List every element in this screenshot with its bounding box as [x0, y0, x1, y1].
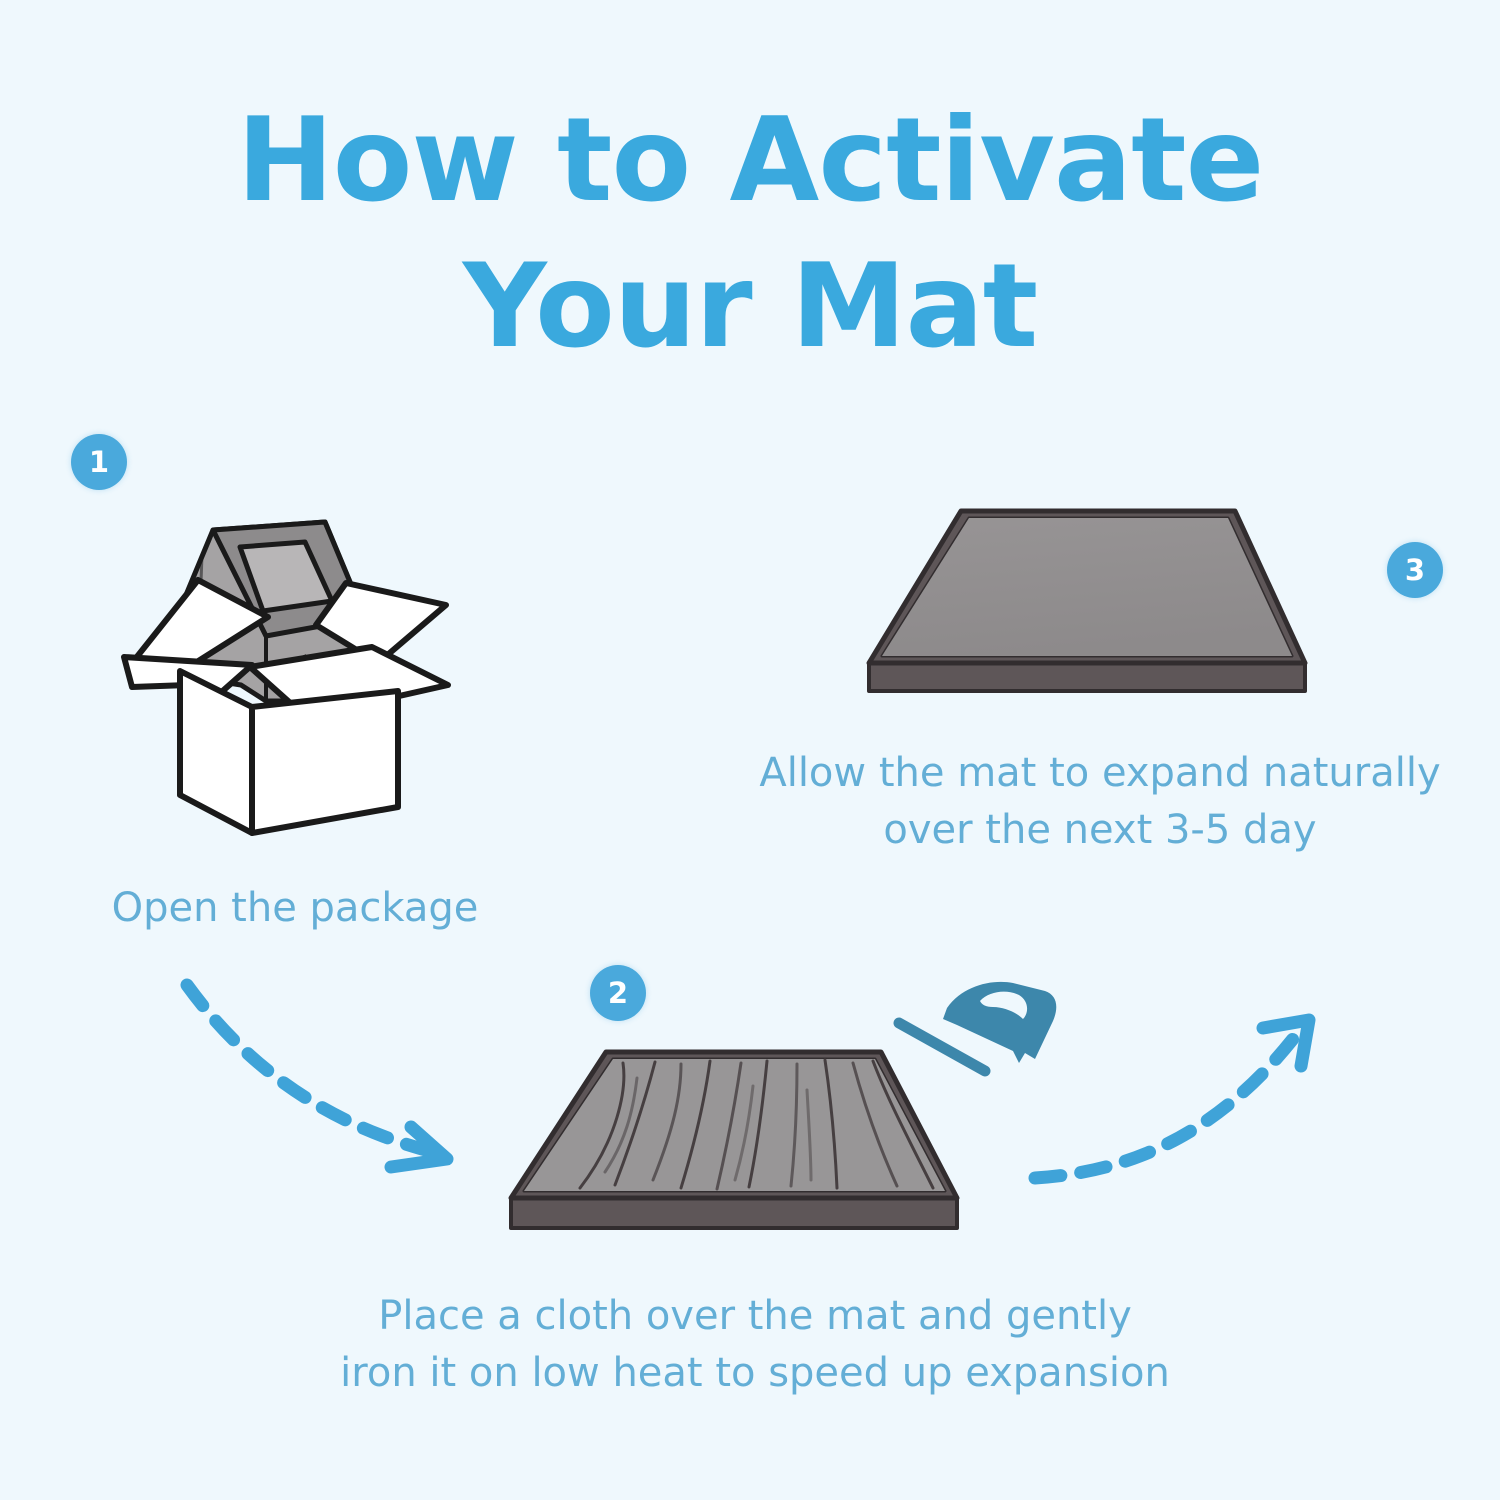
step-3-caption-line-2: over the next 3-5 day — [700, 802, 1500, 859]
step-badge-1: 1 — [71, 434, 127, 490]
arrow-2-svg — [1015, 1000, 1335, 1220]
open-box-illustration — [120, 495, 480, 855]
infographic-canvas: How to Activate Your Mat 1 — [0, 0, 1500, 1500]
open-box-svg — [120, 495, 480, 855]
step-badge-2: 2 — [590, 965, 646, 1021]
step-2-caption-line-2: iron it on low heat to speed up expansio… — [230, 1345, 1280, 1402]
arrow-1-svg — [175, 975, 495, 1195]
flat-mat-illustration — [865, 485, 1335, 695]
step-1-caption: Open the package — [30, 880, 560, 937]
flat-mat-svg — [865, 485, 1335, 695]
step-badge-3: 3 — [1387, 542, 1443, 598]
dashed-curved-arrow-down-right-icon — [175, 975, 495, 1195]
step-3-caption: Allow the mat to expand naturally over t… — [700, 745, 1500, 859]
arrow-1-shaft — [187, 985, 437, 1153]
step-2-caption-line-1: Place a cloth over the mat and gently — [230, 1288, 1280, 1345]
wrinkled-mat-illustration — [505, 1030, 995, 1260]
step-2-caption: Place a cloth over the mat and gently ir… — [230, 1288, 1280, 1402]
title-line-2: Your Mat — [0, 234, 1500, 380]
box-face-left — [180, 671, 252, 833]
title-line-1: How to Activate — [237, 93, 1264, 228]
mat3-front-edge — [869, 663, 1305, 691]
wrinkled-mat-svg — [505, 1030, 995, 1260]
mat2-front-edge — [511, 1198, 957, 1228]
box-face-front — [252, 691, 398, 833]
page-title: How to Activate Your Mat — [0, 88, 1500, 380]
step-3-caption-line-1: Allow the mat to expand naturally — [700, 745, 1500, 802]
dashed-curved-arrow-up-right-icon — [1015, 1000, 1335, 1220]
arrow-2-shaft — [1035, 1026, 1303, 1178]
step-1-caption-text: Open the package — [112, 885, 479, 931]
